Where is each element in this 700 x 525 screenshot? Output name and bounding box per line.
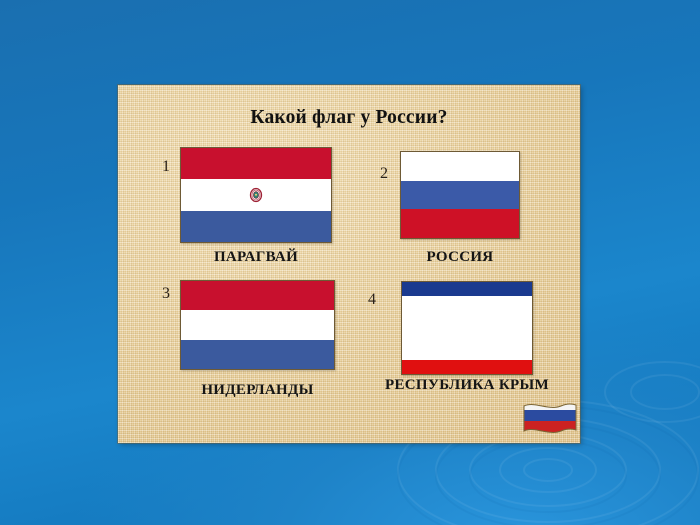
flag-number-2: 2 — [380, 165, 388, 183]
flag-stripe-middle — [181, 310, 334, 339]
content-panel: Какой флаг у России? 1 ПАРАГВАЙ — [118, 85, 580, 443]
flag-caption-4: РЕСПУБЛИКА КРЫМ — [346, 377, 588, 394]
flag-image-paraguay — [180, 147, 332, 243]
flag-number-4: 4 — [368, 291, 376, 309]
flag-stripe-top — [181, 148, 331, 179]
flag-stripe-top — [181, 281, 334, 310]
paraguay-seal-icon — [248, 186, 265, 203]
flag-stripe-bottom — [181, 340, 334, 369]
flag-number-3: 3 — [162, 285, 170, 303]
russia-flag-badge — [521, 399, 579, 439]
flag-stripe-top — [402, 282, 532, 296]
flag-image-russia — [400, 151, 520, 239]
flag-stripe-middle — [402, 296, 532, 360]
flag-caption-3: НИДЕРЛАНДЫ — [160, 382, 355, 399]
flag-stripe-bottom — [401, 209, 519, 238]
flag-stripe-middle — [401, 181, 519, 210]
flag-caption-2: РОССИЯ — [390, 249, 530, 266]
slide-canvas: Какой флаг у России? 1 ПАРАГВАЙ — [0, 0, 700, 525]
flag-stripe-bottom — [181, 211, 331, 242]
flag-caption-1: ПАРАГВАЙ — [180, 249, 332, 266]
flag-stripe-top — [401, 152, 519, 181]
flag-image-netherlands — [180, 280, 335, 370]
page-title: Какой флаг у России? — [118, 107, 580, 129]
flag-stripe-bottom — [402, 360, 532, 374]
flag-image-crimea — [401, 281, 533, 375]
flag-stripe-middle — [181, 179, 331, 210]
flag-number-1: 1 — [162, 158, 170, 176]
